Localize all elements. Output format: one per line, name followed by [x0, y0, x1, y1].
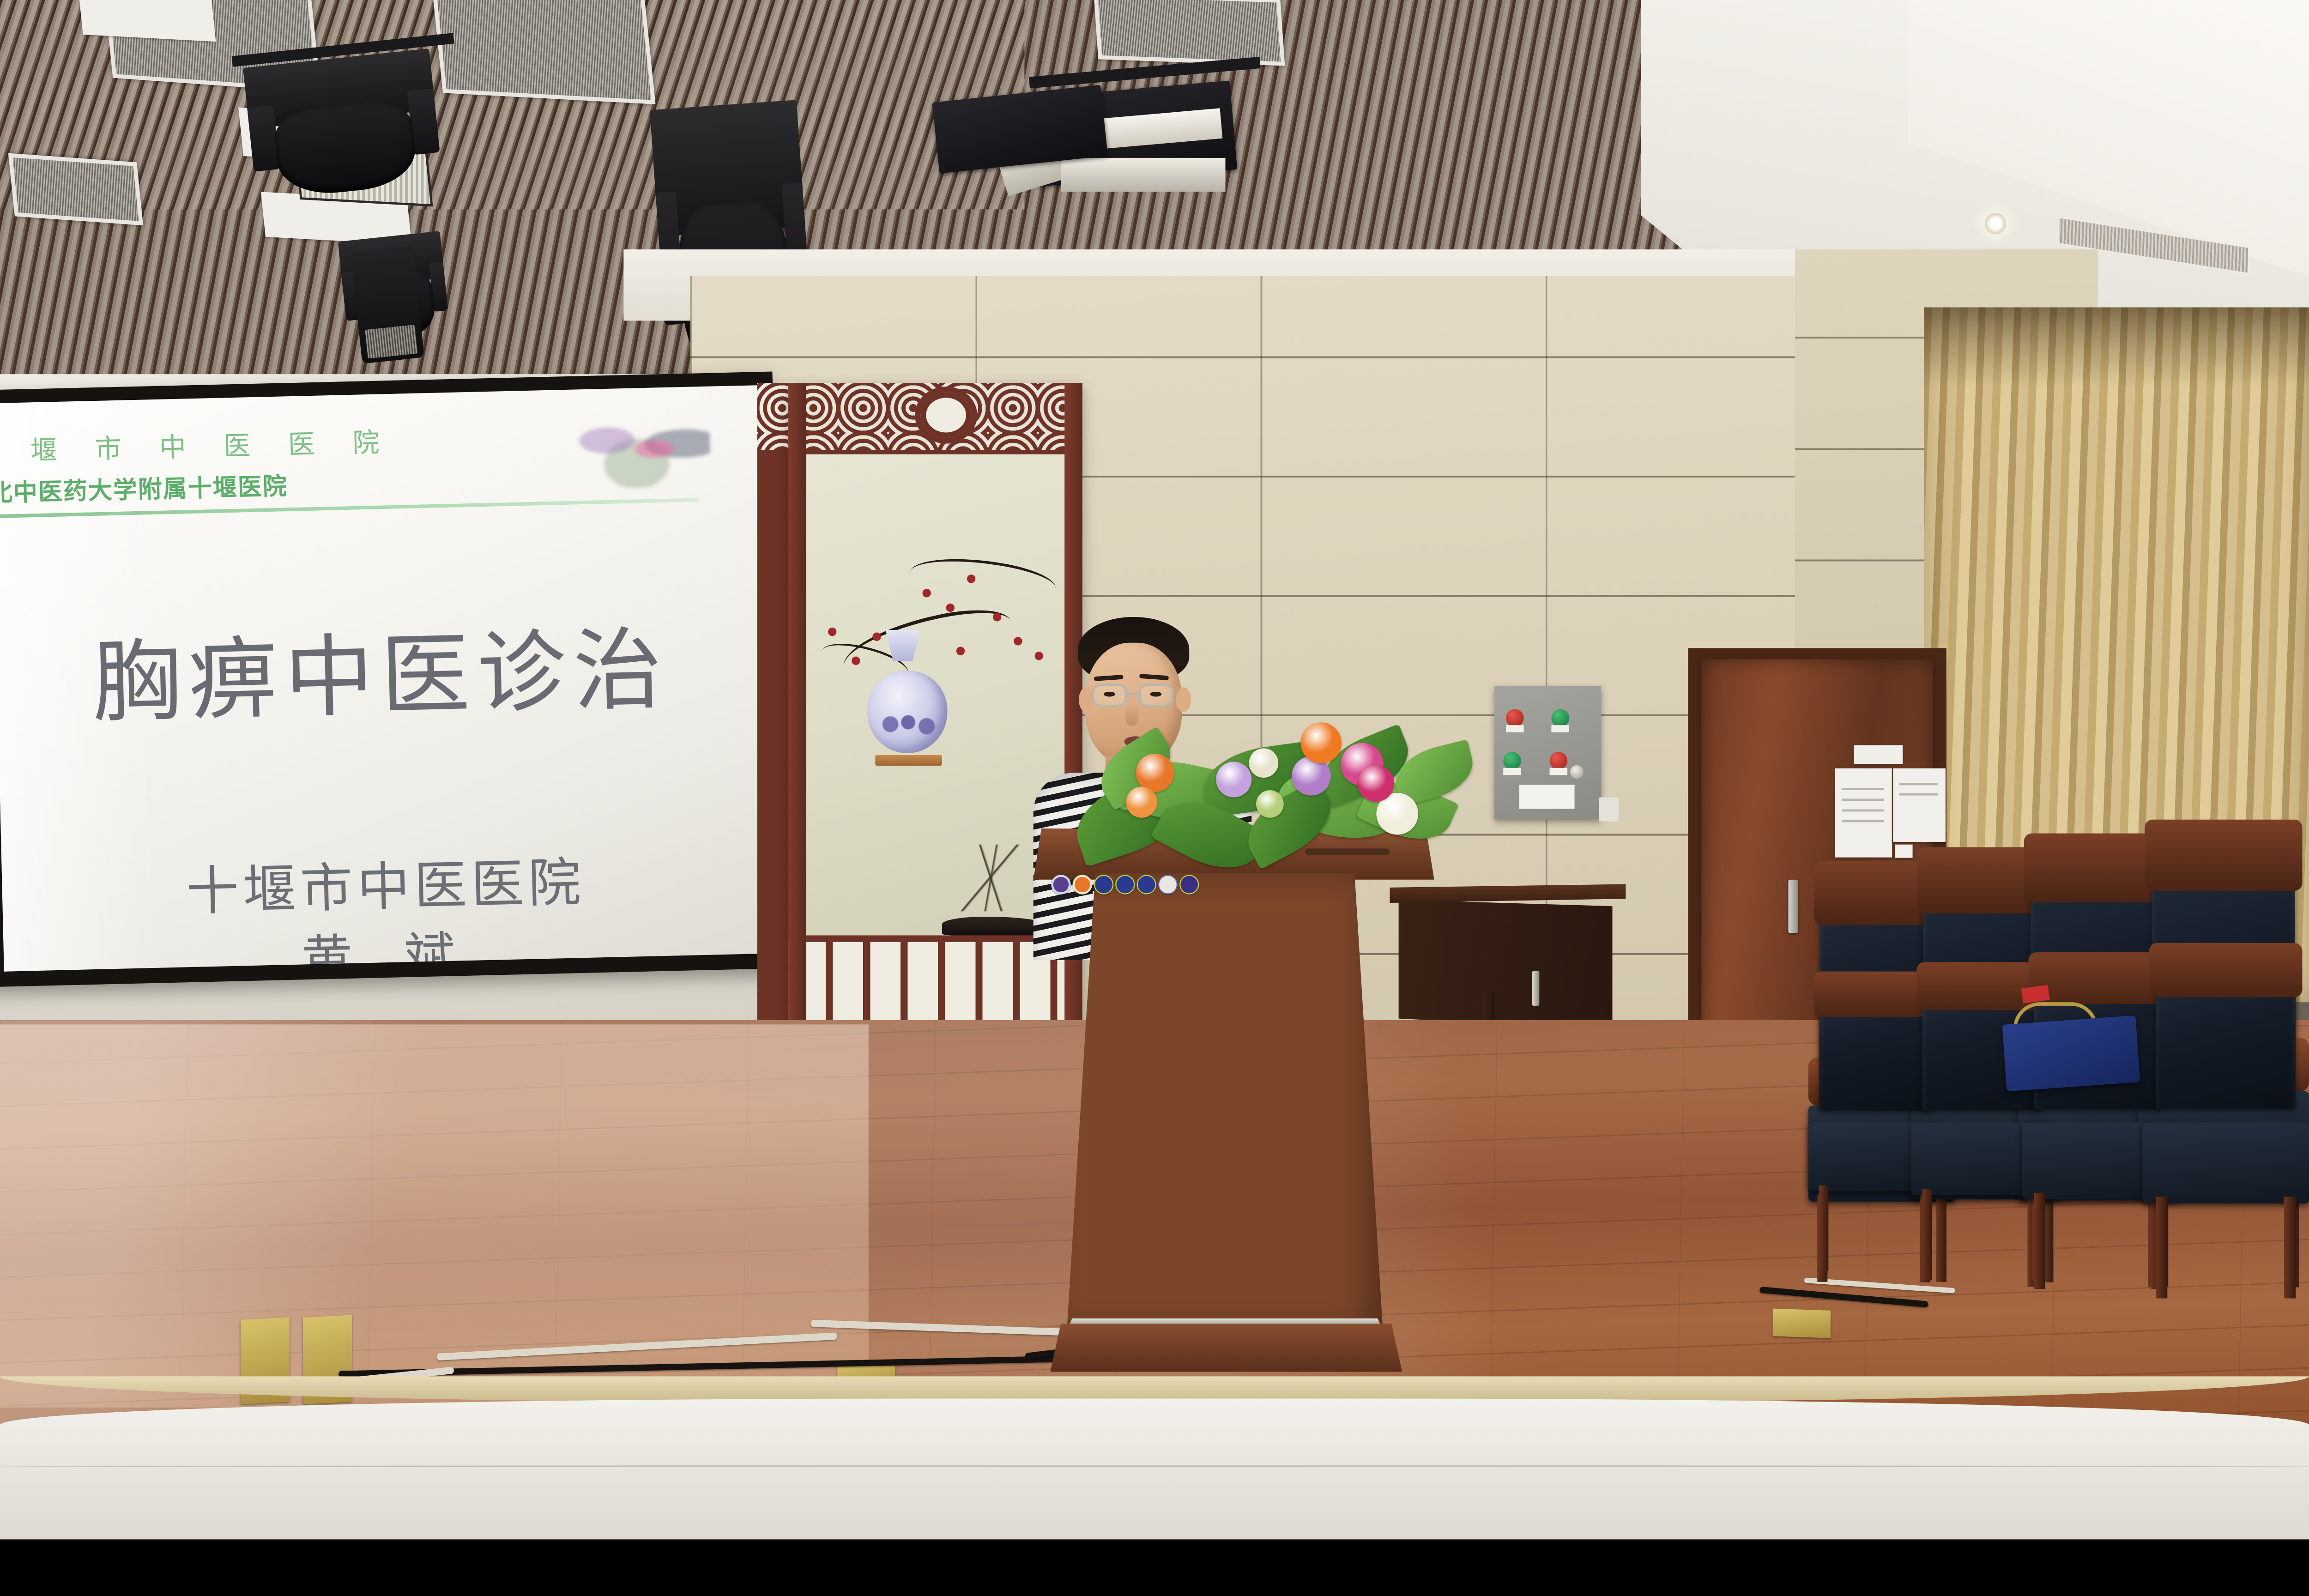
magenta-bloom	[1358, 765, 1394, 802]
slide-title: 胸痹中医诊治	[0, 594, 766, 742]
small-tag-1	[1895, 845, 1913, 858]
indicator-red-top-left	[1506, 709, 1524, 727]
notice-header-strip	[1854, 745, 1903, 764]
par-can-light-2	[351, 247, 424, 364]
orange-rose-2	[1126, 786, 1157, 818]
vase-blue-pattern	[872, 704, 943, 744]
indicator-green-top-right	[1551, 709, 1569, 727]
control-box-keyhole[interactable]	[1570, 765, 1584, 779]
pale-green-bud	[1256, 790, 1284, 818]
orange-bird-of-paradise	[1300, 722, 1342, 763]
conference-hall-photo: 十 堰 市 中 医 医 院 湖北中医药大学附属十堰医院 胸痹中医诊治 十堰市中医…	[0, 0, 2309, 1539]
podium-badge-7	[1179, 875, 1199, 894]
blue-shoulder-bag[interactable]	[2002, 1016, 2140, 1092]
pull-down-projection-screen: 十 堰 市 中 医 医 院 湖北中医药大学附属十堰医院 胸痹中医诊治 十堰市中医…	[0, 371, 786, 987]
lattice-frame-left	[788, 383, 806, 1038]
door-handle[interactable]	[1788, 880, 1798, 933]
indicator-base-3	[1503, 768, 1521, 775]
curtain-top-shadow	[1924, 308, 2309, 388]
indicator-red-bottom-right	[1550, 752, 1568, 770]
lotus-flower-graphic-icon	[562, 406, 711, 490]
plum-branch-right	[907, 549, 1058, 611]
podium-badge-2	[1073, 875, 1092, 894]
side-table-body	[1399, 900, 1613, 1029]
podium-body	[1067, 873, 1383, 1331]
wall-socket[interactable]	[1599, 797, 1619, 821]
stage-apron-seam	[0, 1465, 2309, 1467]
podium-base	[1050, 1324, 1402, 1372]
stage-apron	[0, 1399, 2309, 1540]
slide-surface: 十 堰 市 中 医 医 院 湖北中医药大学附属十堰医院 胸痹中医诊治 十堰市中医…	[0, 385, 771, 971]
vase-plum-blossom-artwork	[804, 454, 1066, 936]
podium-badge-6	[1158, 875, 1178, 894]
side-table-handle[interactable]	[1532, 971, 1539, 1006]
podium-badge-row	[1051, 875, 1199, 894]
podium-badge-5	[1136, 875, 1156, 894]
cream-rose-2	[1249, 748, 1278, 778]
indicator-base-1	[1506, 725, 1524, 732]
chair-8[interactable]	[2142, 953, 2309, 1292]
fretwork-medallion	[915, 387, 977, 443]
floral-arrangement	[1069, 695, 1434, 873]
indicator-base-2	[1551, 725, 1569, 732]
recessed-downlight-3	[1985, 213, 2006, 234]
control-box-label	[1519, 785, 1575, 809]
vase-wooden-stand	[875, 755, 942, 766]
ceiling-light-reflector-c	[78, 0, 216, 42]
indicator-green-bottom-left	[1503, 752, 1521, 770]
indicator-base-4	[1550, 768, 1568, 775]
electrical-control-box[interactable]	[1494, 686, 1601, 819]
air-vent-grille-2	[431, 0, 656, 104]
podium-badge-3	[1094, 875, 1113, 894]
lavender-bloom	[1216, 762, 1251, 797]
air-vent-grille-3	[8, 153, 143, 226]
moving-head-spotlight-1	[243, 48, 443, 201]
floor-outlet-plate-4[interactable]	[1773, 1308, 1831, 1338]
air-vent-grille-4	[1094, 0, 1285, 66]
chinese-lattice-panel-left	[757, 383, 793, 1038]
notice-left	[1835, 768, 1892, 858]
notice-right	[1893, 768, 1946, 842]
podium-badge-4	[1115, 875, 1135, 894]
podium-badge-1	[1051, 875, 1070, 894]
